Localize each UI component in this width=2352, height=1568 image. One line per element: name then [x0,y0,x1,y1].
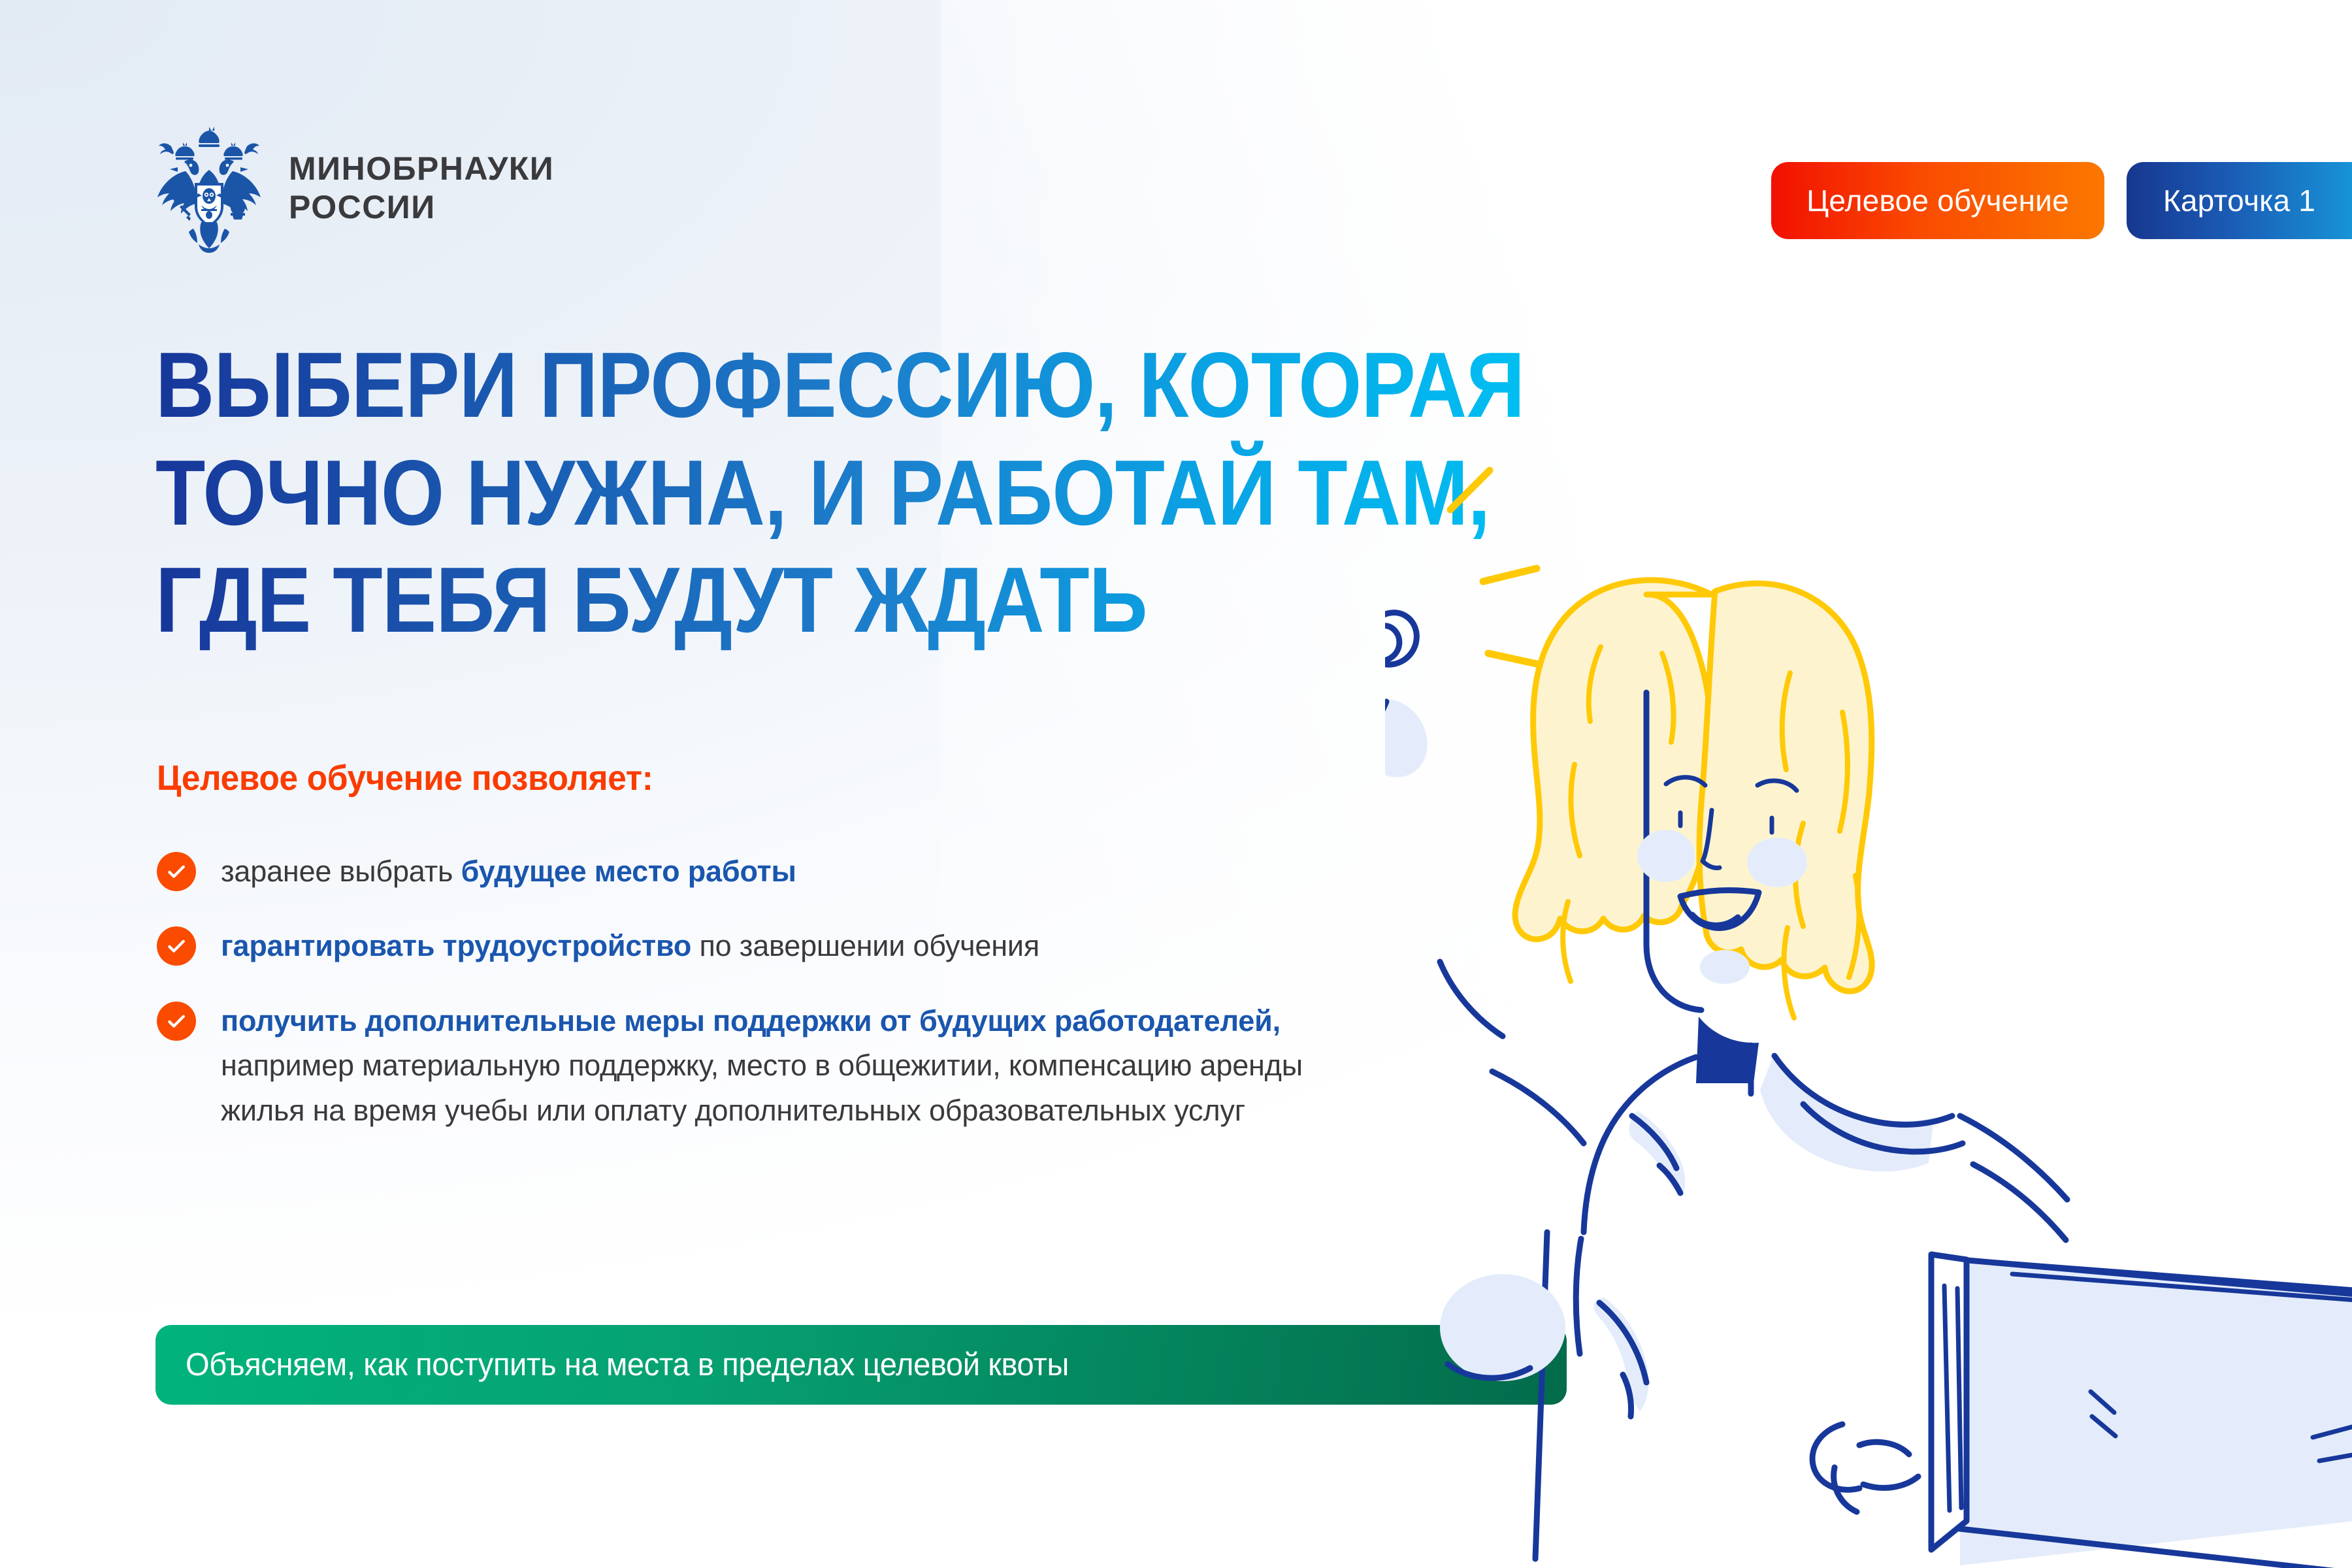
cta-label: Объясняем, как поступить на места в пред… [186,1347,1069,1383]
cardboard-box [1931,1254,2352,1568]
russian-coat-of-arms-eagle-icon [152,123,267,253]
check-circle-icon [157,852,196,891]
badge-card-label: Карточка 1 [2163,183,2315,218]
cta-banner[interactable]: Объясняем, как поступить на места в пред… [155,1325,1567,1405]
smiling-face [1637,693,1807,1083]
infographic-poster: МИНОБРНАУКИ РОССИИ Целевое обучение Карт… [0,0,2352,1568]
headline-line-1: ВЫБЕРИ ПРОФЕССИЮ, КОТОРАЯ [155,332,1547,440]
page-title: ВЫБЕРИ ПРОФЕССИЮ, КОТОРАЯ ТОЧНО НУЖНА, И… [155,332,1737,655]
share-arrow-icon [1482,1339,1533,1390]
ministry-name: МИНОБРНАУКИ РОССИИ [289,150,554,227]
list-item-text: получить дополнительные меры поддержки о… [221,999,1385,1133]
holding-hand [1812,1424,1918,1512]
header: МИНОБРНАУКИ РОССИИ Целевое обучение Карт… [0,0,2352,274]
badge-group: Целевое обучение Карточка 1 [1771,162,2352,239]
headline-line-3: ГДЕ ТЕБЯ БУДУТ ЖДАТЬ [155,547,1547,655]
badge-topic-label: Целевое обучение [1806,183,2069,218]
list-item-text: заранее выбрать будущее место работы [221,849,796,894]
badge-card-number[interactable]: Карточка 1 [2127,162,2352,239]
list-item: заранее выбрать будущее место работы [157,849,1385,894]
headline-line-2: ТОЧНО НУЖНА, И РАБОТАЙ ТАМ, [155,440,1547,547]
check-circle-icon [157,926,196,966]
hair-strands [1563,647,1859,1018]
body-shirt [1440,962,2067,1559]
check-circle-icon [157,1002,196,1041]
list-item-text: гарантировать трудоустройство по заверше… [221,924,1039,968]
list-item: получить дополнительные меры поддержки о… [157,999,1385,1133]
ministry-brand: МИНОБРНАУКИ РОССИИ [152,123,554,253]
benefits-list: заранее выбрать будущее место работы гар… [157,849,1385,1133]
list-item: гарантировать трудоустройство по заверше… [157,924,1385,968]
lead-subheading: Целевое обучение позволяет: [157,758,653,798]
badge-topic[interactable]: Целевое обучение [1771,162,2104,239]
